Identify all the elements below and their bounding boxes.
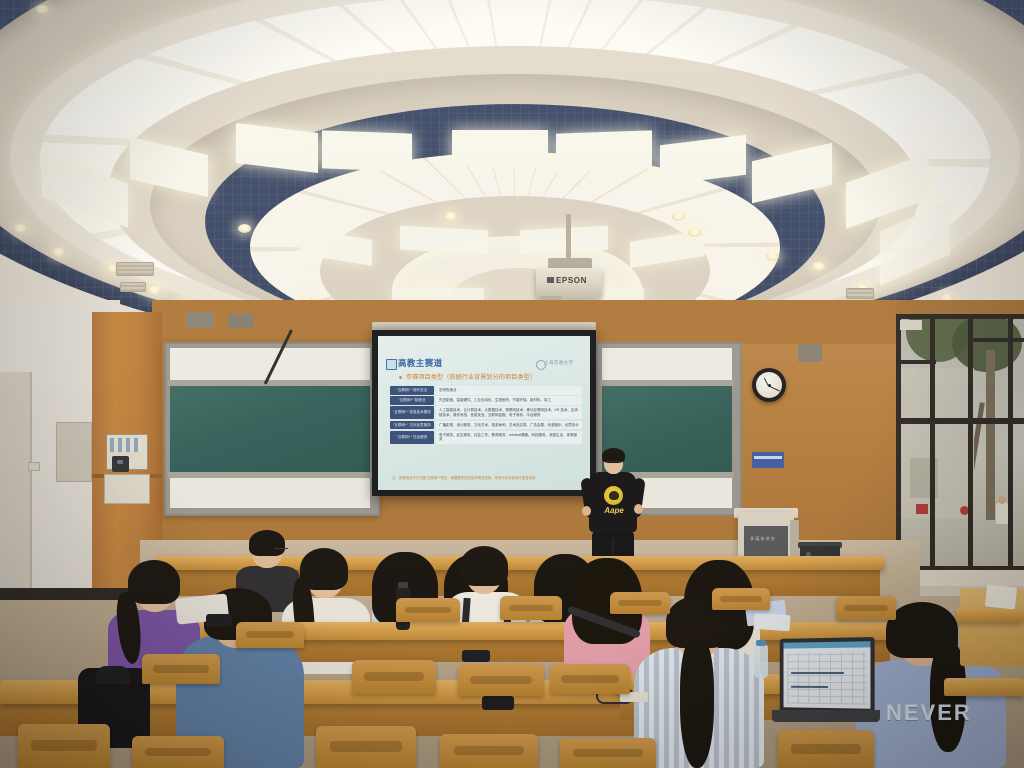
downlight-icon	[36, 5, 49, 14]
tshirt-logo-face-icon	[609, 491, 619, 500]
projector-brand-label: EPSON	[556, 276, 600, 285]
paper-sheet[interactable]	[753, 613, 790, 631]
water-bottle-clear[interactable]	[754, 644, 768, 678]
downlight-icon	[766, 252, 779, 261]
side-desk-top	[956, 608, 1024, 622]
ceiling-vent	[120, 282, 146, 292]
slide-table-row: “互联网+” 制造业 先进制造、智能硬件、工业自动化、生物医药、节能环保、新材料…	[390, 396, 582, 405]
lecture-hall-photo: EPSON 高教主赛道 上海交通大学	[0, 0, 1024, 768]
laptop-screen	[784, 641, 871, 709]
left-chalkboard	[170, 386, 370, 472]
slide-table-row: “互联网+” 文化创意服务 广播影视、设计服务、文化艺术、旅游休闲、艺术品交易、…	[390, 421, 582, 430]
control-panel-buttons[interactable]	[110, 438, 142, 452]
left-whiteboard-lower	[170, 478, 370, 508]
card-reader-screen	[117, 460, 123, 464]
tshirt-brand-text: Aape	[598, 506, 630, 515]
wall-sign-blue-text	[754, 456, 782, 459]
laptop-base	[772, 710, 880, 722]
slide-table-row: “互联网+” 社会服务 电子政务、民生服务、社会工作、教育服务、médical健…	[390, 431, 582, 444]
student-hair	[460, 546, 508, 586]
slide-row-value: 农林牧渔业	[436, 386, 582, 395]
slide-row-key: “互联网+” 文化创意服务	[390, 421, 434, 430]
chair[interactable]	[316, 726, 416, 768]
chair[interactable]	[778, 730, 874, 768]
wall-notice-sign	[104, 474, 150, 504]
chair[interactable]	[712, 588, 770, 610]
paper-sheet[interactable]	[985, 584, 1017, 609]
wall-sign-blue	[752, 452, 784, 468]
window-frame-v	[1008, 314, 1013, 572]
tree-trunk	[986, 350, 995, 520]
chair[interactable]	[550, 664, 630, 694]
downlight-icon	[14, 224, 27, 233]
smartphone[interactable]	[462, 650, 490, 662]
slide-bullet-marker	[399, 376, 402, 379]
bottle-cap	[756, 640, 766, 646]
presenter-left-hand	[582, 506, 591, 516]
window-frame-v	[896, 314, 901, 572]
slide-table-row: “互联网+” 信息技术服务 人工智能技术、云计算技术、大数据技术、物联网技术、移…	[390, 406, 582, 419]
window-frame-v	[930, 314, 935, 572]
chair[interactable]	[440, 734, 538, 768]
slide-row-key: “互联网+” 社会服务	[390, 431, 434, 444]
ceiling-skylight-panel	[556, 130, 652, 171]
ceiling-vent	[846, 288, 874, 299]
slide-footnote: 注：参赛项目不只归属“互联网+”项目，请根据项目的实际情况选择，所有行业背景均可…	[392, 476, 580, 480]
red-sign-outside	[916, 504, 928, 514]
ceiling-skylight-panel	[322, 130, 412, 171]
chair[interactable]	[236, 622, 304, 648]
chair[interactable]	[458, 664, 544, 696]
ceiling-skylight-panel	[452, 130, 548, 166]
window-transom	[896, 360, 936, 364]
slide-bullet-text: 参赛项目类型（依据行业背景划分的项目类型）	[406, 372, 536, 381]
window-frame-h	[896, 314, 1024, 319]
door-recess	[0, 372, 32, 596]
backpack-handle	[96, 666, 130, 684]
smartphone[interactable]	[482, 696, 514, 710]
chair[interactable]	[132, 736, 224, 768]
window-view-outside	[900, 306, 1024, 574]
ceiling	[0, 0, 1024, 340]
podium-label: 多媒体讲台	[750, 536, 776, 542]
slide-row-value: 广播影视、设计服务、文化艺术、旅游休闲、艺术品交易、广告会展、动漫娱乐、创意设计	[436, 421, 582, 430]
chair[interactable]	[836, 596, 896, 620]
slide-row-value: 电子政务、民生服务、社会工作、教育服务、médical健康、科技服务、消费生活、…	[436, 431, 582, 444]
student-ponytail	[680, 636, 714, 768]
chair[interactable]	[610, 592, 670, 614]
student-hair	[128, 560, 180, 604]
person-outside	[996, 502, 1008, 524]
slide-title-icon	[386, 359, 397, 370]
chair[interactable]	[142, 654, 220, 684]
chair[interactable]	[352, 660, 436, 694]
light-switch[interactable]	[28, 462, 40, 471]
projector-badge-icon	[547, 277, 554, 283]
bottle-cap	[398, 582, 408, 588]
downlight-icon	[238, 224, 251, 233]
slide-row-value: 人工智能技术、云计算技术、大数据技术、物联网技术、移动互联网技术、VR 技术、区…	[436, 406, 582, 419]
wall-speaker	[798, 344, 822, 362]
downlight-icon	[444, 212, 457, 221]
downlight-icon	[52, 248, 65, 257]
person-outside-head	[998, 496, 1006, 504]
wall-access-panel	[56, 422, 92, 482]
downlight-icon	[688, 228, 701, 237]
downlight-icon	[672, 212, 685, 221]
slide-table: “互联网+” 现代农业 农林牧渔业 “互联网+” 制造业 先进制造、智能硬件、工…	[390, 386, 582, 445]
ceiling-vent	[116, 262, 154, 276]
window-transom	[968, 338, 1024, 342]
window-head-trim	[896, 300, 1024, 314]
ceiling-skylight-panel-inner	[400, 226, 488, 255]
window-frame-v	[968, 314, 973, 572]
wall-speaker	[228, 314, 254, 328]
chair[interactable]	[500, 596, 562, 620]
right-whiteboard-upper	[602, 348, 732, 380]
glasses-icon	[606, 461, 621, 466]
projector-mount-pole	[566, 214, 571, 260]
side-desk-top	[944, 678, 1024, 696]
glasses-icon	[274, 548, 288, 553]
slide-table-row: “互联网+” 现代农业 农林牧渔业	[390, 386, 582, 395]
jacket-text: NEVER	[886, 700, 996, 726]
chair[interactable]	[18, 724, 110, 768]
slide-row-value: 先进制造、智能硬件、工业自动化、生物医药、节能环保、新材料、军工	[436, 396, 582, 405]
chair[interactable]	[560, 738, 656, 768]
slide-title: 高教主赛道	[398, 357, 443, 369]
smartphone[interactable]	[206, 614, 232, 626]
downlight-icon	[148, 286, 161, 295]
wall-clock	[752, 368, 786, 402]
presenter-right-hand	[634, 504, 643, 514]
slide-row-key: “互联网+” 现代农业	[390, 386, 434, 395]
chair[interactable]	[396, 598, 460, 622]
wall-speaker	[186, 312, 214, 328]
window-light-reflection	[900, 320, 922, 330]
downlight-icon	[812, 262, 825, 271]
ceiling-skylight-panel-inner	[520, 226, 608, 255]
window-frame-h	[896, 418, 1024, 424]
university-logo-text: 上海交通大学	[544, 360, 573, 366]
card-reader[interactable]	[112, 456, 129, 472]
slide-row-key: “互联网+” 信息技术服务	[390, 406, 434, 419]
slide-row-key: “互联网+” 制造业	[390, 396, 434, 405]
